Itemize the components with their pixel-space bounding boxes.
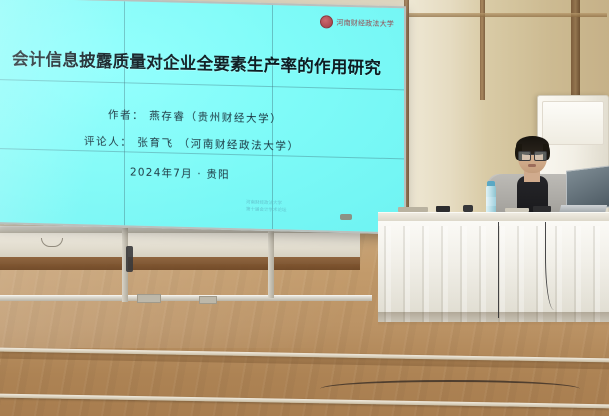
slide-author-line: 作者： 燕存睿（贵州财经大学） [108,107,282,126]
table-floor-shadow [378,312,609,326]
slide-title: 会计信息披露质量对企业全要素生产率的作用研究 [12,44,381,78]
university-logo: 河南财经政法大学 [320,15,394,30]
desk-microphone-base [463,205,473,212]
slide-date-line: 2024年7月 · 贵阳 [130,164,230,182]
presenter-mouth [528,164,536,167]
screenshot-scene: 河南财经政法大学 会计信息披露质量对企业全要素生产率的作用研究 作者： 燕存睿（… [0,0,609,416]
university-seal-icon [320,15,333,28]
stage-equipment-box [340,214,352,220]
table-skirt-pleats [378,226,609,322]
stand-foot-plate-left [137,294,161,303]
presentation-slide: 河南财经政法大学 会计信息披露质量对企业全要素生产率的作用研究 作者： 燕存睿（… [0,0,404,232]
eyeglass-lens-right [534,151,547,161]
screen-stand-leg-right [268,228,274,298]
panel-seam-horizontal-1 [0,79,404,90]
slide-footnote: 河南财经政法大学 第十届会计学术论坛 [246,200,287,215]
stage-dark-band [0,257,360,270]
stand-bracket [126,246,133,272]
water-bottle-cap [487,181,495,186]
wall-trim-horizontal [409,13,607,17]
floor-cable [320,380,580,398]
eyeglass-lens-left [518,151,531,161]
screen-stand-bottom-rail [0,295,372,301]
stand-foot-plate-right [199,296,217,304]
water-bottle-label [486,197,496,206]
hanging-cable-right [545,222,560,310]
university-logo-text: 河南财经政法大学 [336,17,394,28]
led-video-wall: 河南财经政法大学 会计信息披露质量对企业全要素生产率的作用研究 作者： 燕存睿（… [0,0,406,234]
eyeglasses-icon [518,151,547,159]
